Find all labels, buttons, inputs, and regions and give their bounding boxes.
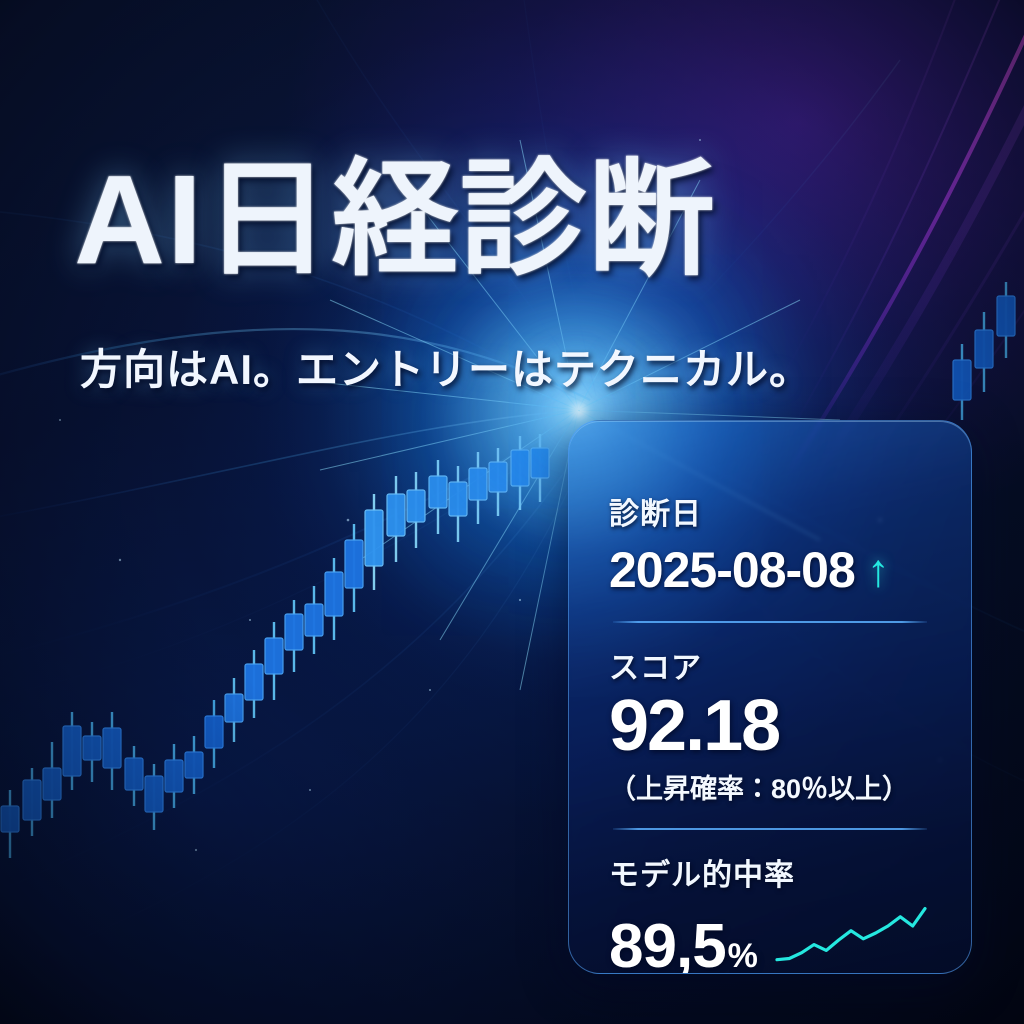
diagnosis-date-label: 診断日 [609,489,931,533]
card-divider-2 [613,828,927,830]
accuracy-number: 89,5 [609,912,726,974]
poster-canvas: AI日経診断 方向はAI。エントリーはテクニカル。 診断日 2025-08-08… [0,0,1024,1024]
score-section: スコア 92.18 （上昇確率：80％以上） [609,643,931,806]
diagnosis-date-value: 2025-08-08 [609,541,855,599]
center-glow [578,410,580,412]
score-note: （上昇確率：80％以上） [609,767,931,806]
diagnosis-date-section: 診断日 2025-08-08 ↑ [609,489,931,599]
card-divider-1 [613,621,927,623]
accuracy-percent-sign: % [728,937,758,974]
page-subtitle: 方向はAI。エントリーはテクニカル。 [80,336,812,397]
accuracy-section: モデル的中率 89,5% [609,850,931,974]
score-value: 92.18 [609,689,931,765]
accuracy-label: モデル的中率 [609,850,931,894]
page-title: AI日経診断 [74,156,716,285]
score-label: スコア [609,643,931,687]
accuracy-sparkline-chart [771,898,931,968]
diagnosis-card: 診断日 2025-08-08 ↑ スコア 92.18 （上昇確率：80％以上） … [568,420,972,974]
accuracy-row: 89,5% [609,898,931,974]
accuracy-value: 89,5% [609,913,758,974]
diagnosis-date-row: 2025-08-08 ↑ [609,541,931,599]
trend-up-arrow-icon: ↑ [867,547,890,593]
